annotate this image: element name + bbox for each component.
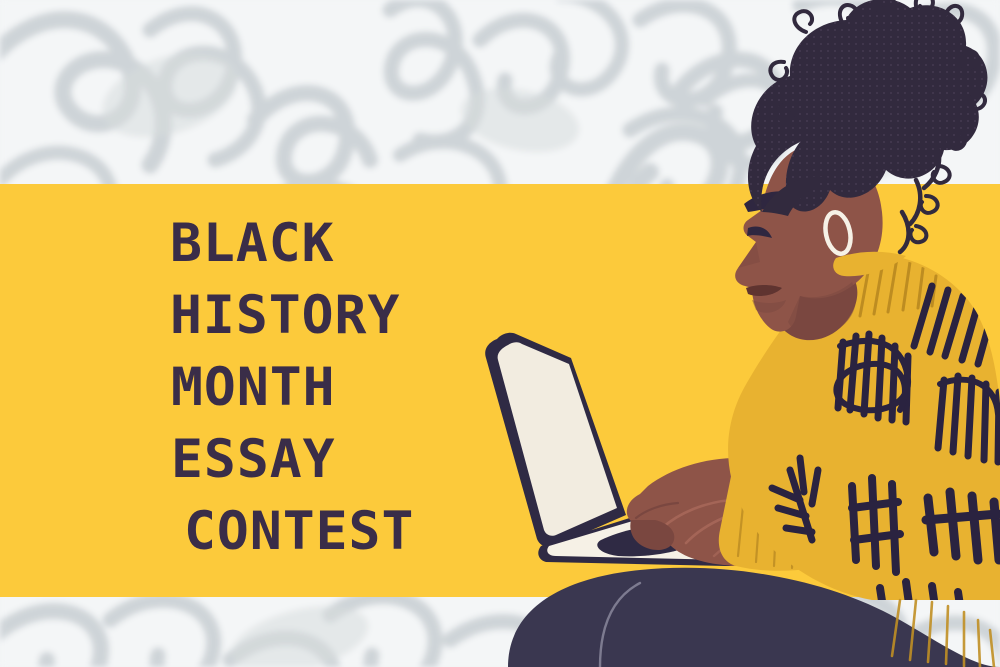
page-title: BLACK HISTORY MONTH ESSAY CONTEST — [170, 217, 414, 558]
headline-line-2: HISTORY — [170, 289, 414, 342]
headline-line-3: MONTH — [171, 361, 414, 414]
headline-line-4: ESSAY — [171, 433, 414, 486]
poster-canvas: BLACK HISTORY MONTH ESSAY CONTEST — [0, 0, 1000, 667]
illustration-woman-typing-on-laptop — [0, 0, 1000, 667]
headline-line-5: CONTEST — [184, 505, 414, 558]
headline-line-1: BLACK — [170, 217, 414, 270]
